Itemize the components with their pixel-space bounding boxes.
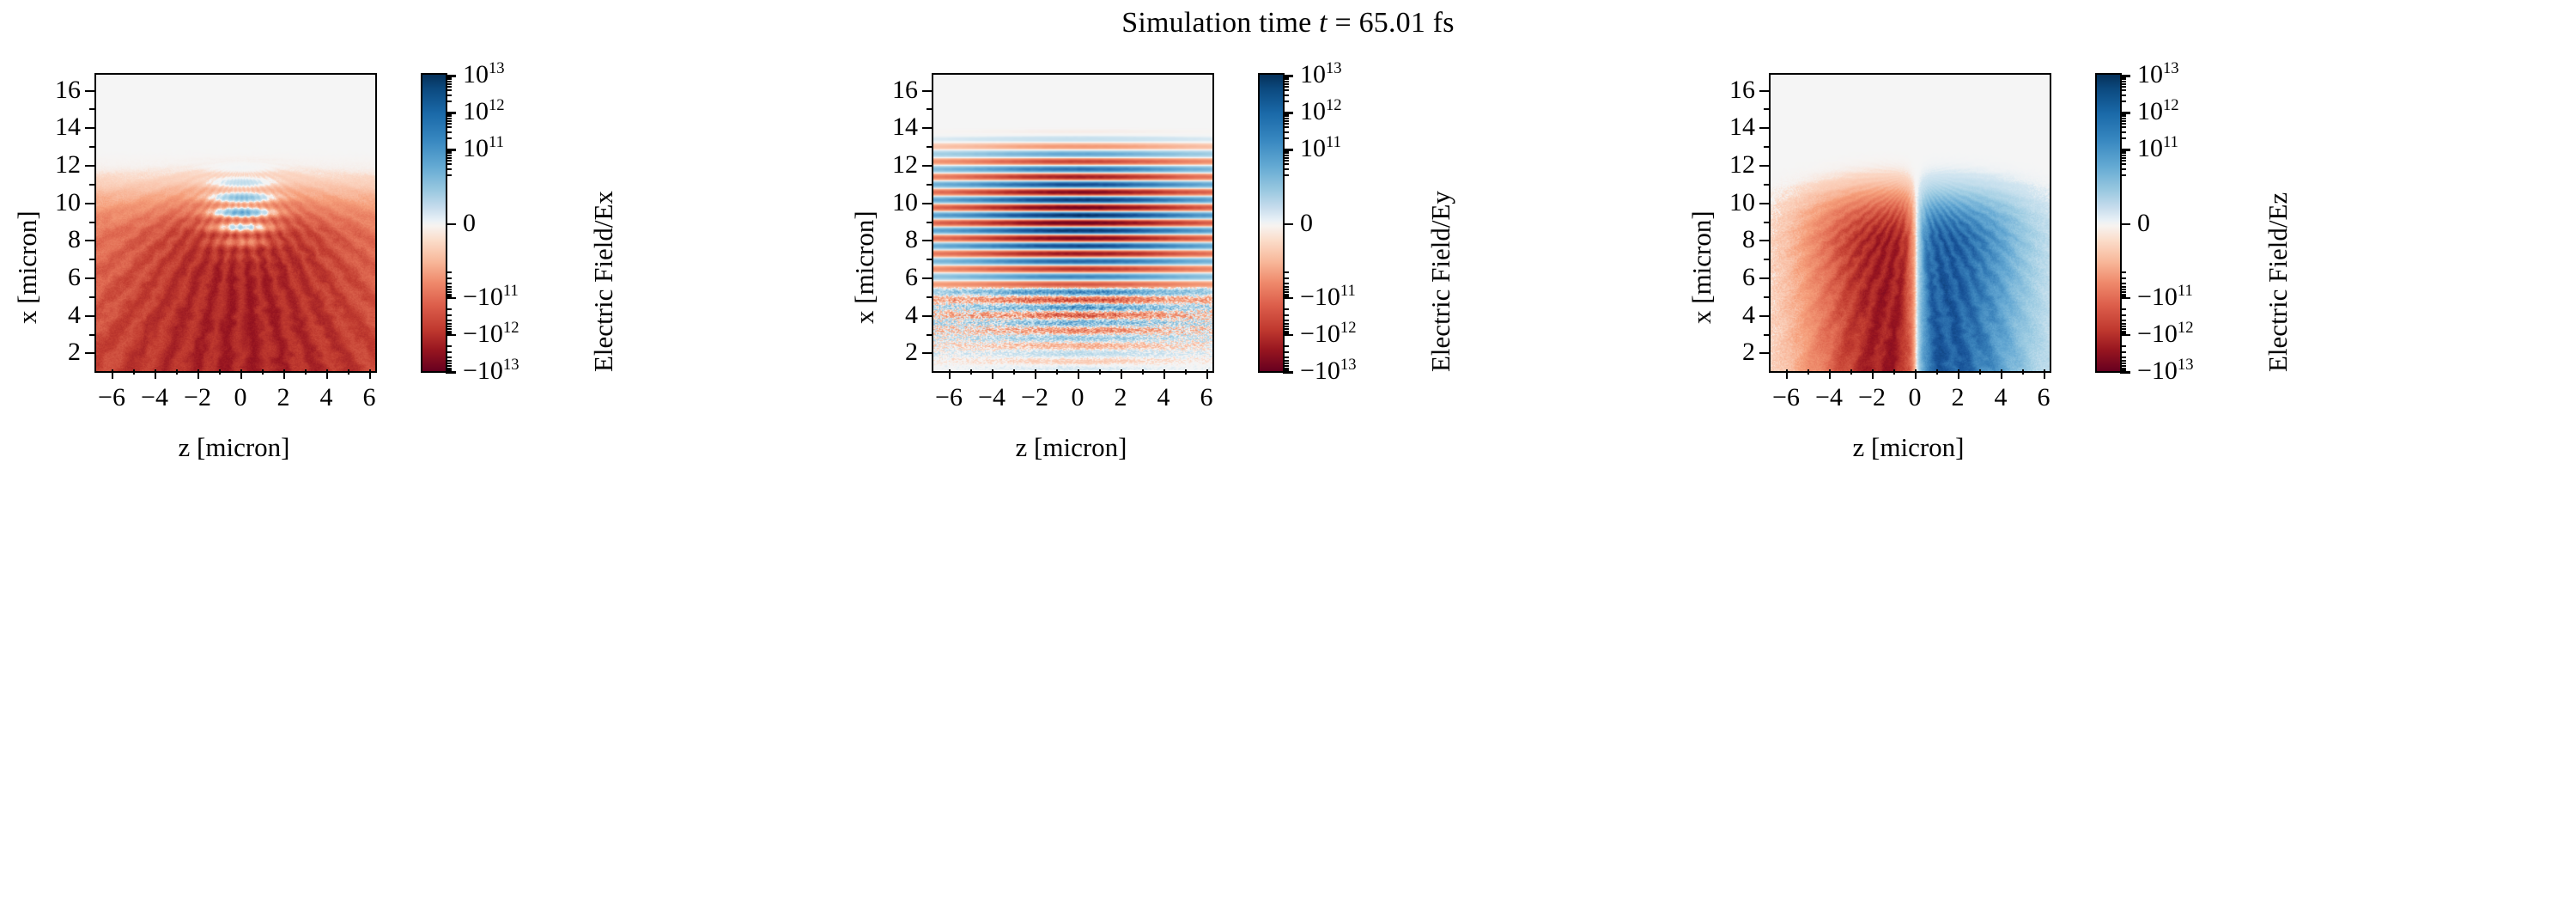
colorbar-tick-major — [1283, 334, 1293, 337]
figure-canvas: Simulation time t = 65.01 fs x [micron] … — [0, 0, 2576, 902]
colorbar-tick-minor — [2120, 126, 2126, 128]
colorbar-tick-minor — [2120, 76, 2126, 78]
y-tick-label: 12 — [1729, 152, 1755, 178]
colorbar-tick-label: −1013 — [463, 358, 519, 384]
colorbar-tick-minor — [1283, 326, 1289, 327]
colorbar-tick-label: 1011 — [463, 136, 504, 162]
x-tick-minor — [133, 369, 135, 375]
x-tick-minor — [1850, 369, 1852, 375]
y-tick-minor — [1764, 296, 1769, 298]
y-tick-label: 4 — [68, 302, 81, 328]
colorbar-tick-minor — [446, 94, 452, 96]
y-tick-major — [1759, 352, 1769, 354]
colorbar-tick-label: −1012 — [1300, 321, 1357, 347]
colorbar-tick-minor — [2120, 351, 2126, 353]
colorbar-tick-minor — [1283, 289, 1289, 290]
colorbar-tick-minor — [2120, 150, 2126, 152]
x-tick-major — [1786, 369, 1788, 379]
y-tick-label: 6 — [1742, 265, 1755, 290]
colorbar-tick-minor — [446, 160, 452, 162]
colorbar-tick-minor — [446, 115, 452, 117]
colorbar-tick-minor — [2120, 123, 2126, 125]
colorbar-tick-minor — [446, 137, 452, 139]
figure-title: Simulation time t = 65.01 fs — [0, 7, 2576, 40]
x-tick-minor — [1099, 369, 1101, 375]
colorbar-tick-minor — [1283, 155, 1289, 156]
y-tick-label: 14 — [892, 114, 918, 140]
colorbar-tick-label: 0 — [1300, 210, 1313, 236]
colorbar-tick-minor — [2120, 323, 2126, 325]
colorbar-tick-major — [1283, 371, 1293, 374]
colorbar-tick-minor — [1283, 120, 1289, 122]
colorbar-tick-minor — [1283, 174, 1289, 176]
colorbar-tick-label: 1011 — [1300, 136, 1341, 162]
x-tick-minor — [219, 369, 221, 375]
colorbar-tick-minor — [1283, 168, 1289, 170]
figure-title-variable: t — [1319, 7, 1327, 39]
x-tick-label: 0 — [234, 385, 247, 411]
colorbar-tick-minor — [1283, 137, 1289, 139]
y-tick-major — [85, 90, 94, 92]
colorbar-tick-minor — [2120, 283, 2126, 284]
y-tick-major — [85, 165, 94, 167]
y-tick-label: 4 — [905, 302, 918, 328]
x-tick-minor — [1056, 369, 1058, 375]
y-tick-major — [85, 127, 94, 129]
colorbar-tick-minor — [1283, 363, 1289, 364]
colorbar-tick-minor — [2120, 326, 2126, 327]
panel-ex-colorbar[interactable]: 1013101210110−1011−1012−1013 — [421, 73, 447, 373]
x-tick-label: −2 — [1858, 385, 1886, 411]
x-tick-minor — [1013, 369, 1015, 375]
x-tick-major — [2001, 369, 2002, 379]
y-tick-minor — [89, 184, 94, 186]
panel-ey-heatmap[interactable] — [933, 75, 1212, 371]
colorbar-tick-minor — [1283, 160, 1289, 162]
colorbar-tick-minor — [2120, 101, 2126, 102]
x-tick-major — [1206, 369, 1208, 379]
y-tick-major — [1759, 203, 1769, 204]
y-tick-label: 2 — [1742, 339, 1755, 365]
colorbar-tick-minor — [446, 81, 452, 82]
x-tick-label: 0 — [1072, 385, 1084, 411]
colorbar-tick-minor — [446, 152, 452, 154]
colorbar-tick-minor — [446, 78, 452, 80]
colorbar-tick-minor — [446, 296, 452, 297]
colorbar-tick-minor — [446, 323, 452, 325]
y-tick-minor — [927, 184, 932, 186]
colorbar-tick-minor — [446, 345, 452, 347]
colorbar-tick-major — [446, 297, 456, 300]
colorbar-tick-minor — [446, 351, 452, 353]
y-tick-major — [922, 127, 932, 129]
y-tick-label: 16 — [55, 77, 81, 103]
x-tick-major — [240, 369, 242, 379]
x-tick-minor — [1979, 369, 1981, 375]
colorbar-tick-minor — [2120, 296, 2126, 297]
y-tick-label: 10 — [55, 190, 81, 216]
colorbar-tick-minor — [1283, 332, 1289, 334]
y-tick-minor — [927, 146, 932, 148]
x-tick-label: 4 — [1995, 385, 2008, 411]
y-tick-major — [85, 277, 94, 279]
y-tick-minor — [89, 259, 94, 260]
colorbar-tick-minor — [2120, 115, 2126, 117]
x-tick-label: 2 — [1952, 385, 1965, 411]
panel-ez-ylabel: x [micron] — [1686, 210, 1717, 324]
x-tick-major — [112, 369, 113, 379]
colorbar-tick-minor — [1283, 296, 1289, 297]
x-tick-major — [1829, 369, 1831, 379]
colorbar-tick-minor — [1283, 345, 1289, 347]
colorbar-tick-minor — [446, 157, 452, 159]
x-tick-label: 6 — [363, 385, 376, 411]
x-tick-label: 4 — [320, 385, 333, 411]
y-tick-minor — [89, 222, 94, 223]
colorbar-tick-minor — [1283, 271, 1289, 273]
y-tick-major — [1759, 90, 1769, 92]
colorbar-tick-minor — [1283, 81, 1289, 82]
colorbar-tick-major — [2120, 297, 2130, 300]
x-tick-label: −2 — [1021, 385, 1048, 411]
x-tick-major — [1872, 369, 1874, 379]
colorbar-tick-minor — [1283, 308, 1289, 310]
y-tick-minor — [1764, 108, 1769, 110]
colorbar-tick-minor — [446, 289, 452, 290]
colorbar-tick-minor — [2120, 113, 2126, 115]
colorbar-tick-minor — [446, 120, 452, 122]
y-tick-minor — [1764, 146, 1769, 148]
y-tick-minor — [927, 222, 932, 223]
y-tick-minor — [927, 334, 932, 336]
colorbar-tick-label: 1013 — [463, 62, 505, 88]
colorbar-tick-minor — [2120, 345, 2126, 347]
colorbar-tick-major — [446, 223, 456, 226]
y-tick-major — [922, 165, 932, 167]
x-tick-minor — [176, 369, 178, 375]
colorbar-tick-minor — [2120, 332, 2126, 334]
x-tick-major — [197, 369, 199, 379]
colorbar-tick-minor — [446, 86, 452, 88]
colorbar-tick-major — [2120, 334, 2130, 337]
colorbar-tick-major — [2120, 371, 2130, 374]
colorbar-tick-label: −1013 — [2137, 358, 2194, 384]
figure-title-prefix: Simulation time — [1121, 7, 1319, 39]
colorbar-tick-minor — [1283, 123, 1289, 125]
x-tick-major — [155, 369, 156, 379]
y-tick-major — [922, 315, 932, 317]
colorbar-tick-label: −1012 — [2137, 321, 2194, 347]
colorbar-tick-minor — [1283, 152, 1289, 154]
colorbar-tick-label: 1012 — [2137, 99, 2179, 125]
colorbar-tick-minor — [1283, 369, 1289, 371]
panel-ex-heatmap[interactable] — [96, 75, 375, 371]
x-tick-minor — [1893, 369, 1895, 375]
x-tick-major — [283, 369, 285, 379]
panel-ey-colorbar-label: Electric Field/Ey — [1425, 191, 1456, 372]
panel-ez-heatmap[interactable] — [1771, 75, 2050, 371]
colorbar-tick-minor — [2120, 120, 2126, 122]
colorbar-tick-minor — [2120, 118, 2126, 119]
panel-ez-colorbar[interactable]: 1013101210110−1011−1012−1013 — [2095, 73, 2122, 373]
y-tick-label: 14 — [55, 114, 81, 140]
colorbar-tick-minor — [1283, 314, 1289, 316]
x-tick-label: 6 — [2038, 385, 2050, 411]
colorbar-tick-major — [446, 334, 456, 337]
y-tick-major — [1759, 127, 1769, 129]
colorbar-tick-minor — [1283, 357, 1289, 358]
x-tick-major — [1915, 369, 1917, 379]
colorbar-tick-minor — [446, 76, 452, 78]
colorbar-tick-minor — [446, 271, 452, 273]
colorbar-tick-label: −1011 — [1300, 284, 1356, 310]
colorbar-tick-label: 1013 — [2137, 62, 2179, 88]
x-tick-minor — [1142, 369, 1144, 375]
colorbar-tick-minor — [1283, 83, 1289, 85]
colorbar-tick-minor — [1283, 150, 1289, 152]
colorbar-tick-minor — [446, 326, 452, 327]
y-tick-major — [85, 315, 94, 317]
colorbar-tick-minor — [446, 118, 452, 119]
colorbar-tick-minor — [446, 83, 452, 85]
x-tick-minor — [305, 369, 307, 375]
x-tick-label: −6 — [935, 385, 963, 411]
x-tick-minor — [1185, 369, 1187, 375]
colorbar-tick-minor — [1283, 78, 1289, 80]
y-tick-label: 6 — [68, 265, 81, 290]
panel-ey-xlabel: z [micron] — [932, 432, 1211, 463]
colorbar-tick-minor — [1283, 115, 1289, 117]
colorbar-tick-minor — [1283, 163, 1289, 165]
x-tick-label: 0 — [1909, 385, 1922, 411]
y-tick-label: 6 — [905, 265, 918, 290]
y-tick-label: 2 — [905, 339, 918, 365]
y-tick-major — [922, 277, 932, 279]
colorbar-tick-minor — [446, 308, 452, 310]
colorbar-tick-minor — [2120, 157, 2126, 159]
y-tick-label: 8 — [68, 227, 81, 253]
y-tick-label: 12 — [892, 152, 918, 178]
x-tick-label: −4 — [1815, 385, 1843, 411]
x-tick-major — [1078, 369, 1079, 379]
panel-ex: x [micron] z [micron] 246810121416 −6−4−… — [94, 73, 661, 369]
y-tick-minor — [927, 259, 932, 260]
x-tick-label: 4 — [1157, 385, 1170, 411]
colorbar-tick-minor — [2120, 94, 2126, 96]
colorbar-tick-minor — [2120, 131, 2126, 133]
colorbar-tick-minor — [446, 163, 452, 165]
colorbar-tick-minor — [1283, 131, 1289, 133]
x-tick-label: 2 — [277, 385, 290, 411]
colorbar-tick-minor — [2120, 360, 2126, 362]
x-tick-major — [2044, 369, 2045, 379]
panel-ez: x [micron] z [micron] 246810121416 −6−4−… — [1769, 73, 2336, 369]
colorbar-tick-minor — [1283, 320, 1289, 321]
colorbar-tick-minor — [2120, 81, 2126, 82]
colorbar-tick-minor — [2120, 357, 2126, 358]
panel-ey-ylabel: x [micron] — [849, 210, 880, 324]
colorbar-tick-minor — [2120, 86, 2126, 88]
y-tick-major — [85, 203, 94, 204]
colorbar-tick-minor — [446, 174, 452, 176]
colorbar-tick-minor — [2120, 289, 2126, 290]
colorbar-tick-minor — [446, 113, 452, 115]
y-tick-major — [85, 352, 94, 354]
y-tick-minor — [1764, 259, 1769, 260]
y-tick-minor — [89, 334, 94, 336]
colorbar-tick-minor — [2120, 78, 2126, 80]
colorbar-tick-minor — [446, 89, 452, 91]
y-tick-major — [85, 240, 94, 241]
colorbar-tick-minor — [2120, 320, 2126, 321]
x-tick-label: −4 — [141, 385, 168, 411]
y-tick-major — [1759, 240, 1769, 241]
colorbar-tick-minor — [446, 314, 452, 316]
x-tick-label: −6 — [98, 385, 125, 411]
colorbar-tick-minor — [2120, 155, 2126, 156]
colorbar-tick-minor — [2120, 137, 2126, 139]
colorbar-tick-minor — [1283, 94, 1289, 96]
y-tick-minor — [89, 108, 94, 110]
x-tick-minor — [1807, 369, 1809, 375]
x-tick-minor — [1936, 369, 1938, 375]
panel-ex-ylabel: x [micron] — [12, 210, 43, 324]
x-tick-major — [1958, 369, 1959, 379]
y-tick-label: 10 — [1729, 190, 1755, 216]
colorbar-tick-minor — [1283, 126, 1289, 128]
y-tick-major — [922, 90, 932, 92]
colorbar-tick-label: 0 — [463, 210, 476, 236]
colorbar-tick-minor — [1283, 360, 1289, 362]
colorbar-tick-minor — [1283, 351, 1289, 353]
colorbar-tick-major — [1283, 297, 1293, 300]
colorbar-tick-minor — [1283, 101, 1289, 102]
colorbar-tick-label: 1013 — [1300, 62, 1342, 88]
y-tick-minor — [927, 108, 932, 110]
colorbar-tick-minor — [446, 360, 452, 362]
x-tick-major — [369, 369, 371, 379]
y-tick-label: 10 — [892, 190, 918, 216]
colorbar-tick-label: −1011 — [2137, 284, 2193, 310]
y-tick-label: 8 — [905, 227, 918, 253]
x-tick-minor — [970, 369, 972, 375]
colorbar-tick-minor — [446, 283, 452, 284]
colorbar-tick-major — [1283, 223, 1293, 226]
x-tick-label: −4 — [978, 385, 1005, 411]
x-tick-major — [326, 369, 328, 379]
y-tick-major — [922, 352, 932, 354]
colorbar-tick-minor — [2120, 152, 2126, 154]
colorbar-tick-major — [2120, 223, 2130, 226]
colorbar-tick-minor — [2120, 163, 2126, 165]
colorbar-tick-minor — [1283, 283, 1289, 284]
figure-title-rest: = 65.01 fs — [1327, 7, 1455, 39]
colorbar-tick-label: 0 — [2137, 210, 2150, 236]
y-tick-major — [1759, 165, 1769, 167]
x-tick-major — [992, 369, 993, 379]
y-tick-label: 2 — [68, 339, 81, 365]
colorbar-tick-minor — [2120, 83, 2126, 85]
y-tick-label: 14 — [1729, 114, 1755, 140]
colorbar-tick-minor — [2120, 89, 2126, 91]
colorbar-tick-minor — [446, 320, 452, 321]
colorbar-tick-minor — [2120, 286, 2126, 288]
x-tick-major — [1121, 369, 1122, 379]
x-tick-minor — [2022, 369, 2024, 375]
colorbar-tick-minor — [1283, 118, 1289, 119]
colorbar-tick-minor — [446, 277, 452, 279]
y-tick-label: 16 — [892, 77, 918, 103]
x-tick-major — [1035, 369, 1036, 379]
y-tick-minor — [1764, 184, 1769, 186]
x-tick-major — [1163, 369, 1165, 379]
colorbar-tick-minor — [446, 332, 452, 334]
colorbar-tick-minor — [1283, 113, 1289, 115]
colorbar-tick-minor — [446, 101, 452, 102]
y-tick-minor — [89, 296, 94, 298]
colorbar-tick-minor — [2120, 168, 2126, 170]
panel-ey-axes[interactable] — [932, 73, 1214, 373]
colorbar-tick-major — [446, 371, 456, 374]
colorbar-tick-minor — [2120, 363, 2126, 364]
y-tick-label: 16 — [1729, 77, 1755, 103]
colorbar-tick-label: 1011 — [2137, 136, 2178, 162]
colorbar-tick-minor — [2120, 271, 2126, 273]
colorbar-tick-minor — [1283, 89, 1289, 91]
colorbar-tick-minor — [446, 155, 452, 156]
x-tick-label: −2 — [184, 385, 211, 411]
panel-ez-axes[interactable] — [1769, 73, 2051, 373]
colorbar-tick-minor — [446, 369, 452, 371]
colorbar-tick-minor — [2120, 369, 2126, 371]
x-tick-label: 2 — [1115, 385, 1127, 411]
colorbar-tick-minor — [1283, 286, 1289, 288]
panel-ex-axes[interactable] — [94, 73, 377, 373]
colorbar-tick-minor — [446, 131, 452, 133]
y-tick-minor — [927, 296, 932, 298]
colorbar-tick-minor — [1283, 323, 1289, 325]
colorbar-tick-minor — [1283, 157, 1289, 159]
colorbar-tick-minor — [446, 126, 452, 128]
y-tick-label: 12 — [55, 152, 81, 178]
colorbar-tick-label: −1013 — [1300, 358, 1357, 384]
x-tick-major — [949, 369, 951, 379]
y-tick-minor — [89, 146, 94, 148]
y-tick-label: 8 — [1742, 227, 1755, 253]
colorbar-tick-minor — [446, 357, 452, 358]
panel-ez-colorbar-label: Electric Field/Ez — [2263, 192, 2293, 372]
colorbar-tick-minor — [2120, 160, 2126, 162]
y-tick-major — [1759, 277, 1769, 279]
colorbar-tick-minor — [446, 286, 452, 288]
panel-ex-xlabel: z [micron] — [94, 432, 374, 463]
colorbar-tick-label: −1012 — [463, 321, 519, 347]
x-tick-label: 6 — [1200, 385, 1213, 411]
colorbar-tick-minor — [1283, 76, 1289, 78]
colorbar-tick-label: 1012 — [1300, 99, 1342, 125]
y-tick-label: 4 — [1742, 302, 1755, 328]
panel-ex-colorbar-label: Electric Field/Ex — [588, 191, 619, 372]
colorbar-tick-minor — [2120, 277, 2126, 279]
x-tick-minor — [262, 369, 264, 375]
y-tick-major — [922, 240, 932, 241]
colorbar-tick-minor — [1283, 277, 1289, 279]
colorbar-tick-minor — [2120, 314, 2126, 316]
colorbar-tick-label: −1011 — [463, 284, 519, 310]
y-tick-major — [922, 203, 932, 204]
panel-ey-colorbar[interactable]: 1013101210110−1011−1012−1013 — [1258, 73, 1285, 373]
colorbar-tick-minor — [446, 363, 452, 364]
